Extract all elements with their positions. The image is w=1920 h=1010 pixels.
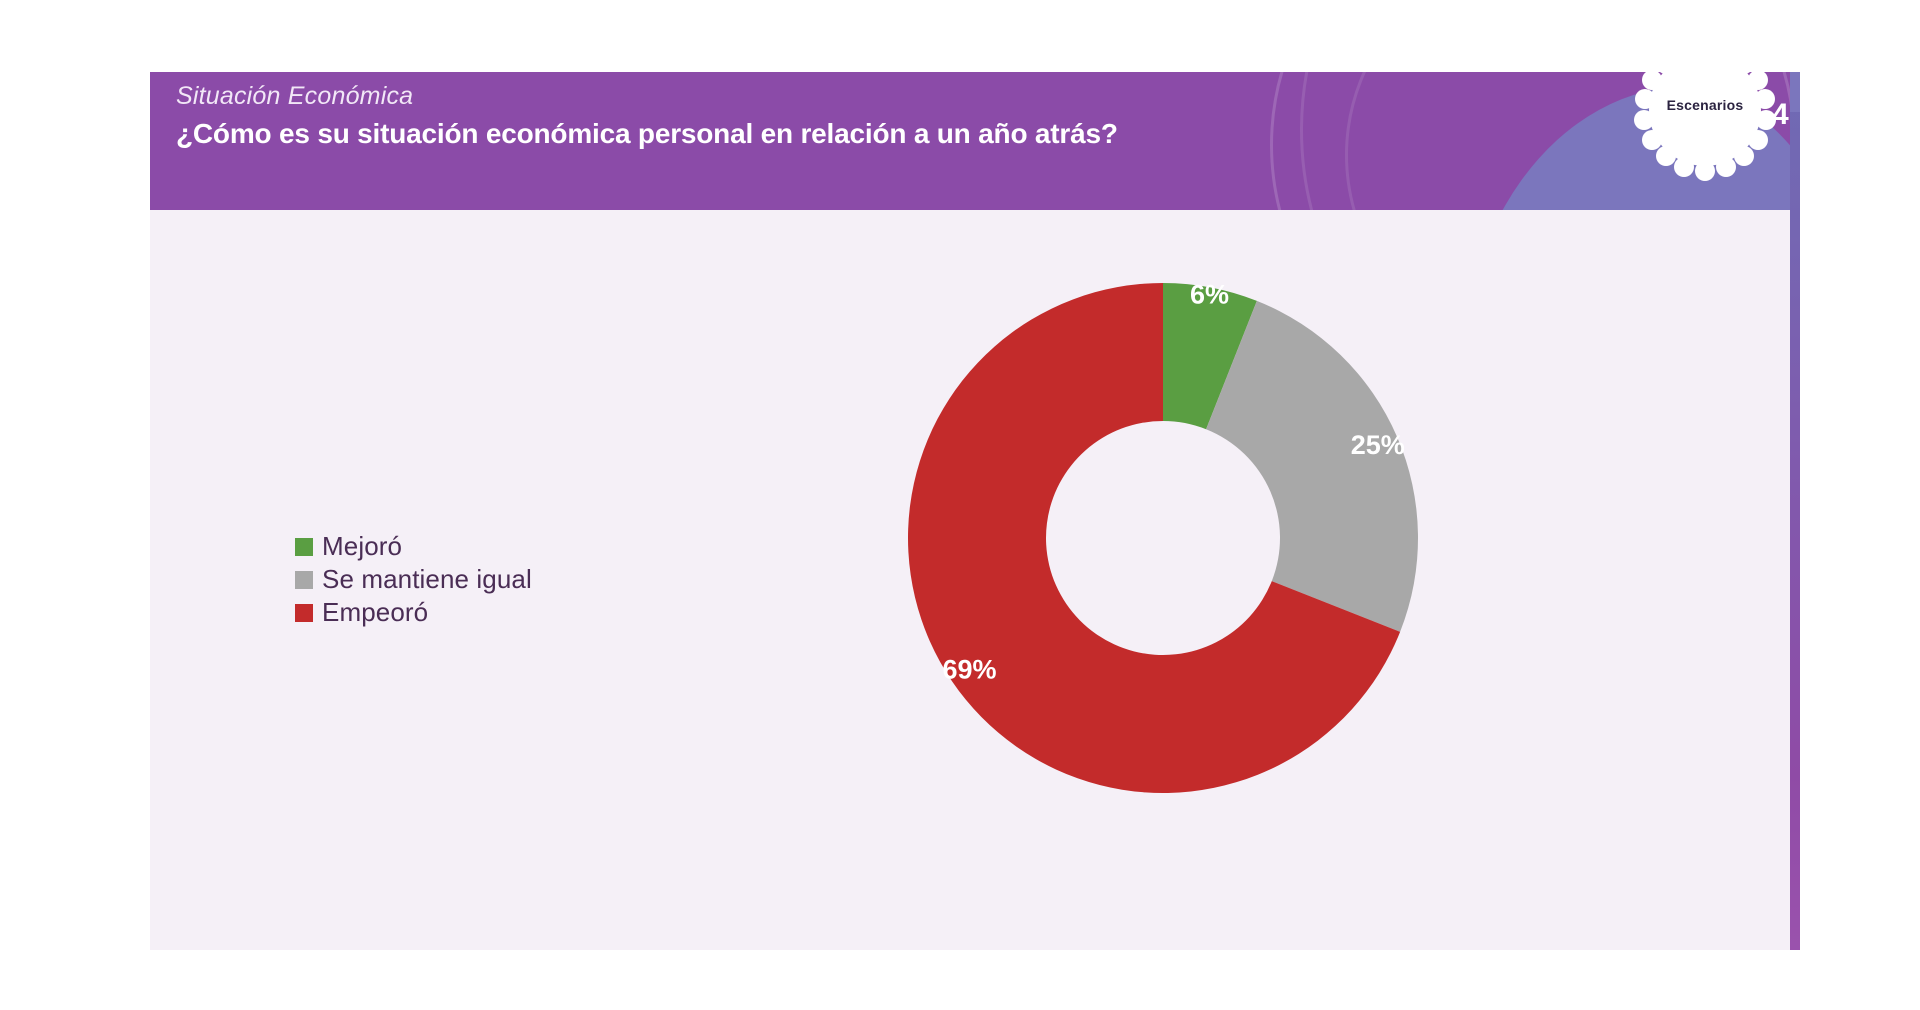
donut-chart-svg: 6%25%69%	[883, 258, 1443, 818]
slide-right-edge-stripe	[1790, 72, 1800, 950]
legend-swatch-icon	[295, 571, 313, 589]
donut-slice[interactable]	[1206, 301, 1418, 632]
slide-right-edge-stripe-cap	[1790, 72, 1800, 112]
legend-swatch-icon	[295, 604, 313, 622]
donut-slice-group	[908, 283, 1418, 793]
donut-chart: 6%25%69%	[883, 258, 1443, 818]
legend-item-label: Se mantiene igual	[322, 564, 532, 595]
donut-slice-label: 69%	[942, 655, 996, 685]
scalloped-badge: Escenarios	[1630, 72, 1780, 185]
chart-legend: Mejoró Se mantiene igual Empeoró	[295, 530, 532, 629]
legend-item-mejoro[interactable]: Mejoró	[295, 530, 532, 563]
scallop-icon	[1630, 72, 1780, 185]
header-text-block: Situación Económica ¿Cómo es su situació…	[176, 82, 1118, 150]
badge-label: Escenarios	[1644, 97, 1766, 113]
chart-body: Mejoró Se mantiene igual Empeoró 6%25%69…	[150, 210, 1800, 950]
badge-number: 4	[1772, 98, 1788, 132]
legend-swatch-icon	[295, 538, 313, 556]
legend-item-label: Mejoró	[322, 531, 402, 562]
legend-item-label: Empeoró	[322, 597, 428, 628]
legend-item-empeoro[interactable]: Empeoró	[295, 596, 532, 629]
donut-slice-label: 6%	[1190, 279, 1229, 309]
legend-item-se-mantiene-igual[interactable]: Se mantiene igual	[295, 563, 532, 596]
donut-slice-label: 25%	[1351, 430, 1405, 460]
section-eyebrow: Situación Económica	[176, 82, 1118, 111]
slide: Situación Económica ¿Cómo es su situació…	[150, 72, 1800, 950]
slide-header-band: Situación Económica ¿Cómo es su situació…	[150, 72, 1800, 210]
page-title: ¿Cómo es su situación económica personal…	[176, 118, 1118, 150]
